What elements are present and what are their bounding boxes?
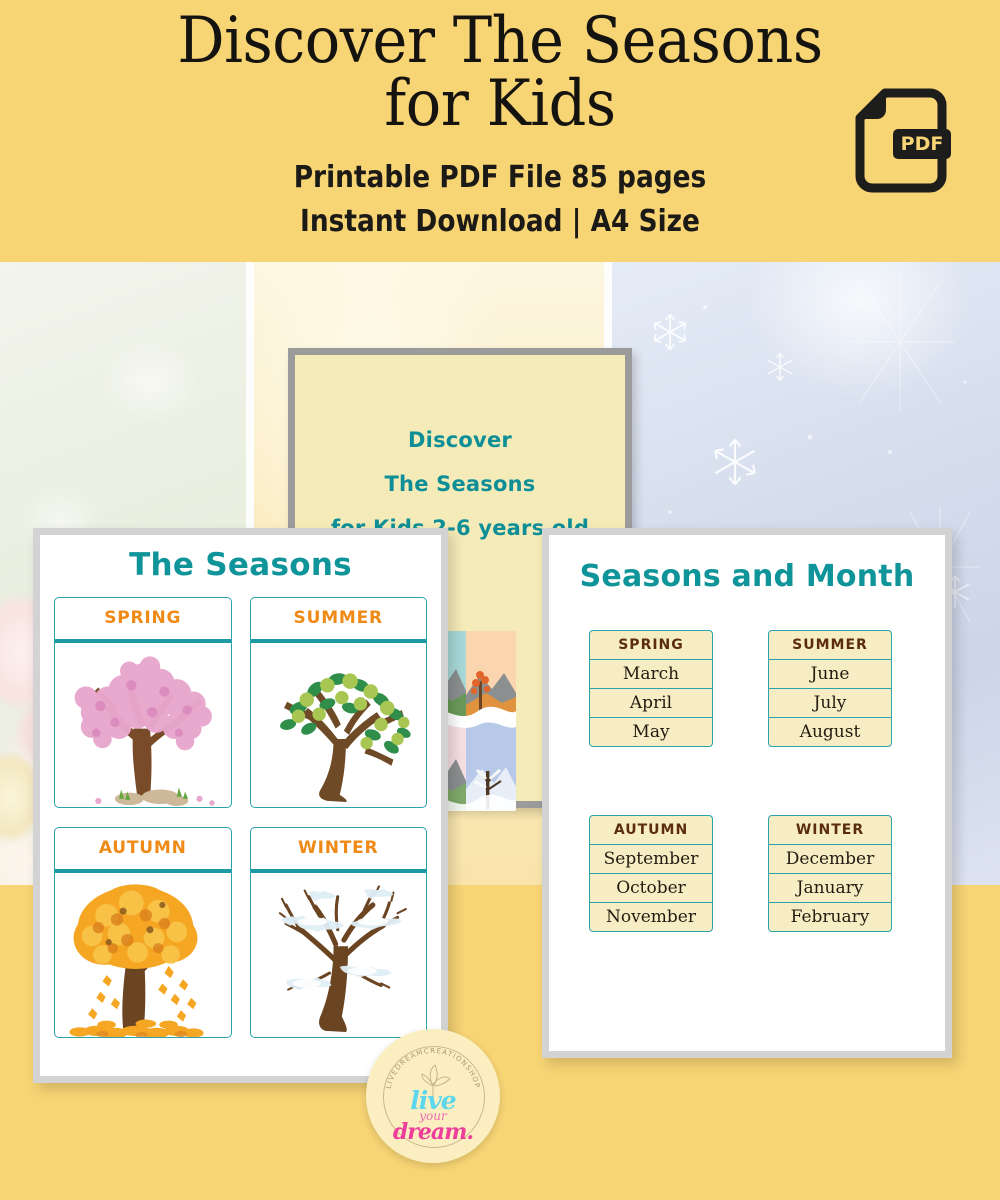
month-cell: June [768, 660, 892, 689]
month-cell: September [589, 845, 713, 874]
season-rule [55, 869, 231, 873]
cherry-blossom-tree-icon [55, 644, 230, 808]
months-card-title: Seasons and Month [549, 559, 945, 594]
cover-line-1: Discover [295, 428, 625, 452]
month-cell: August [768, 718, 892, 747]
shop-logo-badge[interactable]: LIVEDREAMCREATIONSHOP live your dream. [366, 1029, 500, 1163]
month-cell: April [589, 689, 713, 718]
month-header-autumn: AUTUMN [589, 815, 713, 845]
month-cell: November [589, 903, 713, 932]
subtitle-delivery: Instant Download | A4 Size [60, 204, 940, 239]
season-label-spring: SPRING [55, 598, 231, 636]
month-cell: July [768, 689, 892, 718]
page-title-line-1: Discover The Seasons [40, 10, 960, 73]
month-cell: January [768, 874, 892, 903]
months-preview-card[interactable]: Seasons and Month SPRING March April May… [542, 528, 952, 1058]
season-label-summer: SUMMER [251, 598, 427, 636]
season-cell-autumn[interactable]: AUTUMN [54, 827, 232, 1038]
season-rule [251, 869, 427, 873]
logo-ring-text: LIVEDREAMCREATIONSHOP [385, 1047, 482, 1090]
season-label-winter: WINTER [251, 828, 427, 866]
seasons-preview-card[interactable]: The Seasons SPRING [33, 528, 448, 1083]
pdf-file-icon: PDF [855, 88, 955, 193]
subtitle-pages: Printable PDF File 85 pages [60, 160, 940, 195]
month-cell: May [589, 718, 713, 747]
month-cell: December [768, 845, 892, 874]
month-column-autumn: AUTUMN September October November [589, 815, 713, 932]
page-title-line-2: for Kids [40, 73, 960, 136]
seasons-grid: SPRING [54, 597, 427, 1038]
season-rule [251, 639, 427, 643]
season-rule [55, 639, 231, 643]
page-title: Discover The Seasons for Kids [40, 10, 960, 135]
month-column-summer: SUMMER June July August [768, 630, 892, 747]
month-header-spring: SPRING [589, 630, 713, 660]
product-listing-image: Discover The Seasons for Kids 2-6 years … [0, 0, 1000, 1200]
month-cell: February [768, 903, 892, 932]
pdf-badge-label: PDF [901, 133, 944, 155]
season-label-autumn: AUTUMN [55, 828, 231, 866]
season-cell-summer[interactable]: SUMMER [250, 597, 428, 808]
orange-autumn-tree-icon [55, 874, 230, 1038]
season-cell-spring[interactable]: SPRING [54, 597, 232, 808]
snow-covered-bare-tree-icon [251, 874, 426, 1038]
header-banner: Discover The Seasons for Kids Printable … [0, 0, 1000, 262]
month-header-summer: SUMMER [768, 630, 892, 660]
logo-word-dream: dream. [366, 1119, 500, 1145]
month-column-winter: WINTER December January February [768, 815, 892, 932]
season-cell-winter[interactable]: WINTER [250, 827, 428, 1038]
seasons-card-title: The Seasons [40, 547, 441, 583]
green-leaf-tree-icon [251, 644, 426, 808]
month-header-winter: WINTER [768, 815, 892, 845]
month-column-spring: SPRING March April May [589, 630, 713, 747]
month-cell: March [589, 660, 713, 689]
month-cell: October [589, 874, 713, 903]
months-grid: SPRING March April May SUMMER June July … [589, 630, 909, 932]
cover-line-2: The Seasons [295, 472, 625, 496]
